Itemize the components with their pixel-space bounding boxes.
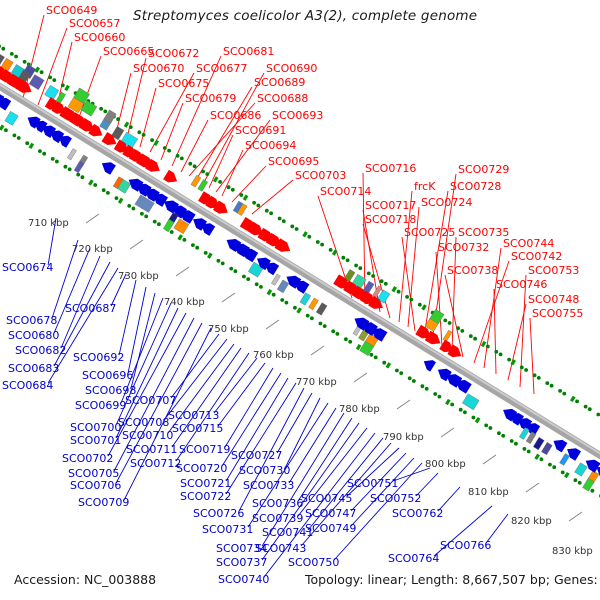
rna-marker-dot [272, 293, 276, 297]
reverse-gene-label[interactable]: SCO0692 [73, 352, 124, 363]
reverse-gene-label[interactable]: SCO0750 [288, 557, 339, 568]
reverse-gene-label[interactable]: SCO0701 [70, 435, 121, 446]
forward-gene-box[interactable] [198, 179, 208, 191]
rna-marker-dot [163, 146, 167, 150]
reverse-gene-label[interactable]: SCO0696 [82, 370, 133, 381]
rna-marker-dot [51, 157, 55, 161]
forward-gene-label[interactable]: SCO0649 [46, 5, 97, 16]
reverse-gene-label[interactable]: SCO0709 [78, 497, 129, 508]
accession-text: Accession: NC_003888 [14, 572, 156, 587]
rna-marker-dot [463, 410, 467, 414]
forward-gene-label[interactable]: SCO0725 [404, 227, 455, 238]
rna-marker-dot [246, 277, 250, 281]
reverse-gene-label[interactable]: SCO0764 [388, 553, 439, 564]
reverse-gene-box[interactable] [271, 274, 280, 286]
axis-tick-label: 740 kbp [164, 297, 205, 308]
reverse-gene-label[interactable]: SCO0722 [180, 491, 231, 502]
forward-gene-label[interactable]: SCO0690 [266, 63, 317, 74]
forward-gene-label[interactable]: SCO0688 [257, 93, 308, 104]
reverse-gene-label[interactable]: SCO0713 [168, 410, 219, 421]
reverse-gene-label[interactable]: SCO0702 [62, 453, 113, 464]
axis-tick-label: 710 kbp [28, 218, 69, 229]
reverse-gene-label[interactable]: SCO0706 [70, 480, 121, 491]
rna-marker-dot [170, 230, 174, 234]
rna-marker-dot [293, 306, 297, 310]
forward-gene-label[interactable]: SCO0729 [458, 164, 509, 175]
rna-marker-dot [255, 282, 259, 286]
rna-marker-dot [514, 442, 518, 446]
axis-tick-leader [483, 455, 496, 464]
forward-gene-label[interactable]: SCO0677 [196, 63, 247, 74]
rna-marker-dot [207, 253, 213, 259]
reverse-gene-label[interactable]: SCO0740 [218, 574, 269, 585]
rna-marker-dot [558, 389, 562, 393]
forward-label-leader [140, 88, 156, 147]
reverse-gene-box[interactable] [533, 437, 544, 450]
forward-gene-label[interactable]: frcK [414, 181, 435, 192]
reverse-gene-label[interactable]: SCO0751 [347, 478, 398, 489]
rna-marker-dot [395, 369, 399, 373]
rna-marker-dot [523, 447, 527, 451]
axis-tick-label: 770 kbp [296, 377, 337, 388]
reverse-gene-arrow[interactable] [456, 380, 472, 394]
forward-gene-label[interactable]: SCO0728 [450, 181, 501, 192]
rna-marker-dot [510, 439, 514, 443]
reverse-gene-box[interactable] [462, 394, 479, 410]
rna-marker-dot [296, 307, 302, 313]
axis-tick-leader [569, 512, 582, 521]
reverse-gene-label[interactable]: SCO0749 [305, 523, 356, 534]
reverse-gene-label[interactable]: SCO0711 [126, 444, 177, 455]
forward-gene-arrow[interactable] [163, 170, 177, 183]
reverse-gene-box[interactable] [74, 161, 84, 173]
forward-gene-label[interactable]: SCO0717 [365, 200, 416, 211]
rna-marker-dot [472, 416, 476, 420]
rna-marker-dot [118, 198, 124, 204]
reverse-gene-label[interactable]: SCO0712 [130, 458, 181, 469]
rna-marker-dot [409, 298, 413, 302]
rna-marker-dot [157, 222, 161, 226]
rna-marker-dot [42, 152, 46, 156]
rna-marker-dot [205, 172, 209, 176]
forward-gene-label[interactable]: SCO0672 [148, 48, 199, 59]
rna-marker-dot [0, 44, 1, 48]
rna-marker-dot [269, 211, 273, 215]
rna-marker-dot [527, 450, 531, 454]
rna-marker-dot [204, 251, 208, 255]
rna-marker-dot [13, 134, 17, 138]
rna-marker-dot [265, 209, 269, 213]
reverse-gene-label[interactable]: SCO0752 [370, 493, 421, 504]
forward-gene-label[interactable]: SCO0755 [532, 308, 583, 319]
rna-marker-dot [76, 173, 80, 177]
rna-marker-dot [341, 256, 345, 260]
forward-label-leader [436, 252, 442, 346]
reverse-gene-arrow[interactable] [265, 263, 279, 276]
reverse-gene-box[interactable] [560, 454, 570, 466]
forward-gene-label[interactable]: SCO0732 [438, 242, 489, 253]
rna-marker-dot [150, 138, 154, 142]
forward-label-leader [530, 318, 534, 394]
rna-marker-dot [399, 371, 403, 375]
rna-marker-dot [188, 162, 192, 166]
rna-marker-dot [418, 303, 422, 307]
rna-marker-dot [578, 481, 582, 485]
reverse-gene-box[interactable] [541, 442, 552, 455]
rna-marker-dot [129, 125, 133, 129]
genome-map-viewer: Streptomyces coelicolor A3(2), complete … [0, 0, 600, 600]
reverse-gene-label[interactable]: SCO0745 [301, 493, 352, 504]
rna-marker-dot [316, 240, 320, 244]
genome-info-text: Topology: linear; Length: 8,667,507 bp; … [305, 572, 600, 587]
rna-marker-dot [242, 275, 246, 279]
rna-marker-dot [64, 85, 70, 91]
forward-gene-label[interactable]: SCO0714 [320, 186, 371, 197]
rna-marker-dot [346, 258, 350, 262]
rna-marker-dot [421, 304, 427, 310]
forward-gene-label[interactable]: SCO0670 [133, 63, 184, 74]
rna-marker-dot [489, 426, 493, 430]
rna-marker-dot [1, 47, 5, 51]
reverse-gene-box[interactable] [309, 298, 319, 310]
rna-marker-dot [278, 217, 282, 221]
reverse-gene-arrow[interactable] [295, 281, 310, 294]
reverse-gene-arrow[interactable] [424, 360, 436, 372]
reverse-gene-box[interactable] [519, 428, 529, 440]
rna-marker-dot [252, 201, 256, 205]
forward-label-leader [161, 103, 183, 160]
forward-label-leader [508, 304, 526, 380]
rna-marker-dot [564, 472, 570, 478]
rna-marker-dot [93, 183, 97, 187]
forward-gene-label[interactable]: SCO0665 [103, 46, 154, 57]
axis-tick-label: 730 kbp [118, 271, 159, 282]
forward-gene-label[interactable]: SCO0681 [223, 46, 274, 57]
rna-marker-dot [534, 454, 540, 460]
reverse-gene-box[interactable] [575, 463, 588, 477]
reverse-gene-label[interactable]: SCO0705 [68, 468, 119, 479]
reverse-gene-label[interactable]: SCO0674 [2, 262, 53, 273]
reverse-label-leader [218, 363, 265, 426]
reverse-gene-label[interactable]: SCO0736 [252, 498, 303, 509]
rna-marker-dot [302, 231, 308, 237]
rna-marker-dot [229, 267, 233, 271]
rna-marker-dot [552, 465, 556, 469]
reverse-gene-box[interactable] [277, 280, 289, 293]
forward-gene-label[interactable]: SCO0686 [210, 110, 261, 121]
rna-marker-dot [588, 407, 592, 411]
reverse-gene-box[interactable] [526, 432, 536, 444]
reverse-gene-label[interactable]: SCO0684 [2, 380, 53, 391]
rna-marker-dot [10, 52, 14, 56]
rna-marker-dot [596, 413, 600, 417]
reverse-gene-label[interactable]: SCO0680 [8, 330, 59, 341]
rna-marker-dot [103, 110, 107, 114]
forward-gene-label[interactable]: SCO0718 [365, 214, 416, 225]
reverse-gene-label[interactable]: SCO0730 [239, 465, 290, 476]
reverse-gene-box[interactable] [67, 149, 76, 161]
rna-marker-dot [507, 358, 511, 362]
reverse-gene-label[interactable]: SCO0739 [252, 513, 303, 524]
rna-marker-dot [201, 170, 205, 174]
reverse-label-leader [128, 287, 146, 373]
rna-marker-dot [106, 191, 110, 195]
rna-marker-dot [282, 219, 286, 223]
rna-marker-dot [358, 266, 362, 270]
rna-marker-dot [323, 324, 327, 328]
rna-marker-dot [548, 463, 552, 467]
rna-marker-dot [38, 149, 42, 153]
rna-marker-dot [499, 353, 503, 357]
rna-marker-dot [397, 290, 401, 294]
reverse-gene-label[interactable]: SCO0727 [231, 450, 282, 461]
rna-marker-dot [14, 55, 18, 59]
reverse-gene-arrow[interactable] [0, 98, 11, 111]
rna-marker-dot [533, 373, 537, 377]
reverse-label-leader [54, 248, 90, 333]
rna-marker-dot [137, 130, 141, 134]
rna-marker-dot [497, 431, 501, 435]
rna-marker-dot [116, 117, 120, 121]
rna-marker-dot [354, 264, 358, 268]
rna-marker-dot [290, 225, 294, 229]
rna-marker-dot [259, 285, 263, 289]
rna-marker-dot [520, 366, 524, 370]
reverse-gene-arrow[interactable] [59, 136, 72, 148]
forward-label-leader [232, 166, 266, 202]
rna-marker-dot [331, 329, 335, 333]
rna-marker-dot [550, 384, 554, 388]
reverse-gene-arrow[interactable] [567, 448, 581, 461]
rna-marker-dot [307, 235, 311, 239]
axis-tick-leader [130, 240, 143, 249]
rna-marker-dot [234, 269, 238, 273]
rna-marker-dot [494, 350, 498, 354]
rna-marker-dot [391, 286, 397, 292]
reverse-gene-label[interactable]: SCO0683 [8, 363, 59, 374]
rna-marker-dot [180, 157, 184, 161]
forward-gene-box[interactable] [45, 85, 59, 100]
axis-tick-leader [86, 214, 99, 223]
reverse-gene-label[interactable]: SCO0707 [125, 395, 176, 406]
rna-marker-dot [344, 337, 348, 341]
rna-marker-dot [484, 424, 488, 428]
reverse-gene-label[interactable]: SCO0715 [172, 423, 223, 434]
axis-tick-leader [441, 428, 454, 437]
rna-marker-dot [306, 314, 310, 318]
rna-marker-dot [561, 471, 565, 475]
axis-tick-label: 760 kbp [253, 350, 294, 361]
rna-marker-dot [102, 188, 106, 192]
forward-gene-label[interactable]: SCO0695 [268, 156, 319, 167]
rna-marker-dot [243, 195, 249, 201]
rna-marker-dot [25, 141, 29, 145]
rna-marker-dot [285, 301, 289, 305]
forward-label-leader [181, 120, 208, 172]
rna-marker-dot [412, 379, 416, 383]
forward-gene-label[interactable]: SCO0738 [447, 265, 498, 276]
forward-gene-label[interactable]: SCO0694 [245, 140, 296, 151]
axis-tick-leader [526, 483, 539, 492]
rna-marker-dot [191, 243, 195, 247]
reverse-gene-arrow[interactable] [243, 249, 259, 263]
genome-map-canvas [0, 0, 600, 600]
rna-marker-dot [81, 175, 85, 179]
rna-marker-dot [320, 243, 324, 247]
rna-marker-dot [140, 212, 144, 216]
forward-gene-box[interactable] [29, 75, 44, 90]
reverse-gene-label[interactable]: SCO0687 [65, 303, 116, 314]
reverse-gene-label[interactable]: SCO0762 [392, 508, 443, 519]
rna-marker-dot [425, 387, 429, 391]
rna-marker-dot [374, 356, 378, 360]
reverse-gene-label[interactable]: SCO0747 [305, 508, 356, 519]
forward-gene-label[interactable]: SCO0724 [421, 197, 472, 208]
reverse-gene-arrow[interactable] [554, 440, 568, 453]
forward-gene-label[interactable]: SCO0689 [254, 77, 305, 88]
axis-tick-label: 830 kbp [552, 546, 593, 557]
forward-gene-label[interactable]: SCO0742 [511, 251, 562, 262]
rna-marker-dot [4, 128, 8, 132]
rna-marker-dot [23, 60, 27, 64]
rna-marker-dot [295, 227, 299, 231]
reverse-gene-label[interactable]: SCO0678 [6, 315, 57, 326]
rna-marker-dot [55, 160, 59, 164]
rna-marker-dot [460, 329, 464, 333]
reverse-gene-label[interactable]: SCO0721 [180, 478, 231, 489]
forward-gene-label[interactable]: SCO0744 [503, 238, 554, 249]
reverse-gene-label[interactable]: SCO0700 [70, 422, 121, 433]
reverse-gene-arrow[interactable] [102, 162, 116, 175]
rna-marker-dot [61, 83, 65, 87]
reverse-label-leader [277, 393, 312, 453]
forward-gene-label[interactable]: SCO0693 [272, 110, 323, 121]
rna-marker-dot [562, 392, 566, 396]
forward-gene-label[interactable]: SCO0679 [185, 93, 236, 104]
reverse-gene-label[interactable]: SCO0743 [255, 543, 306, 554]
rna-marker-dot [574, 478, 578, 482]
rna-marker-dot [433, 392, 437, 396]
rna-marker-dot [384, 282, 388, 286]
rna-marker-dot [545, 381, 549, 385]
reverse-gene-label[interactable]: SCO0766 [440, 540, 491, 551]
reverse-gene-box[interactable] [300, 293, 311, 306]
rna-marker-dot [153, 220, 157, 224]
rna-marker-dot [591, 489, 595, 493]
rna-marker-dot [64, 165, 68, 169]
forward-gene-label[interactable]: SCO0660 [74, 32, 125, 43]
rna-marker-dot [310, 316, 314, 320]
rna-marker-dot [48, 76, 52, 80]
rna-marker-dot [17, 136, 21, 140]
rna-marker-dot [29, 143, 35, 149]
page-title: Streptomyces coelicolor A3(2), complete … [133, 8, 477, 24]
reverse-gene-label[interactable]: SCO0710 [122, 430, 173, 441]
rna-marker-dot [380, 279, 384, 283]
rna-marker-dot [231, 188, 235, 192]
rna-marker-dot [475, 417, 481, 423]
axis-tick-leader [397, 400, 410, 409]
reverse-gene-label[interactable]: SCO0731 [202, 524, 253, 535]
reverse-gene-label[interactable]: SCO0708 [118, 417, 169, 428]
rna-marker-dot [132, 207, 136, 211]
forward-label-leader [252, 180, 293, 214]
rna-marker-dot [456, 326, 460, 330]
rna-marker-dot [329, 248, 333, 252]
rna-marker-dot [459, 408, 463, 412]
rna-marker-dot [227, 185, 231, 189]
rna-marker-dot [537, 376, 541, 380]
rna-marker-dot [115, 196, 119, 200]
rna-marker-dot [469, 334, 473, 338]
forward-gene-label[interactable]: SCO0753 [528, 265, 579, 276]
forward-gene-label[interactable]: SCO0735 [458, 227, 509, 238]
forward-gene-label[interactable]: SCO0746 [496, 279, 547, 290]
forward-gene-box[interactable] [191, 175, 201, 187]
axis-tick-leader [176, 267, 189, 276]
rna-marker-dot [319, 322, 323, 326]
reverse-gene-label[interactable]: SCO0726 [193, 508, 244, 519]
rna-marker-dot [193, 164, 197, 168]
rna-marker-dot [524, 368, 528, 372]
rna-marker-dot [221, 262, 225, 266]
rna-marker-dot [183, 238, 187, 242]
reverse-gene-box[interactable] [5, 111, 18, 125]
rna-marker-dot [386, 362, 392, 368]
rna-marker-dot [486, 345, 490, 349]
rna-marker-dot [445, 399, 451, 405]
forward-gene-label[interactable]: SCO0703 [295, 170, 346, 181]
rna-marker-dot [142, 133, 146, 137]
rna-marker-dot [570, 396, 576, 402]
reverse-label-leader [119, 280, 136, 355]
forward-gene-box[interactable] [443, 330, 452, 342]
forward-gene-label[interactable]: SCO0748 [528, 294, 579, 305]
forward-gene-label[interactable]: SCO0675 [158, 78, 209, 89]
forward-gene-label[interactable]: SCO0657 [69, 18, 120, 29]
axis-tick-label: 810 kbp [468, 487, 509, 498]
rna-marker-dot [239, 193, 243, 197]
rna-marker-dot [575, 400, 579, 404]
rna-marker-dot [405, 295, 409, 299]
reverse-gene-label[interactable]: SCO0699 [75, 400, 126, 411]
rna-marker-dot [438, 395, 442, 399]
reverse-gene-arrow[interactable] [201, 223, 215, 236]
rna-marker-dot [336, 332, 340, 336]
axis-tick-label: 750 kbp [208, 324, 249, 335]
forward-gene-label[interactable]: SCO0691 [235, 125, 286, 136]
rna-marker-dot [382, 361, 386, 365]
reverse-gene-label[interactable]: SCO0720 [176, 463, 227, 474]
reverse-gene-label[interactable]: SCO0733 [243, 480, 294, 491]
rna-marker-dot [68, 167, 72, 171]
rna-marker-dot [267, 289, 273, 295]
reverse-gene-label[interactable]: SCO0737 [216, 557, 267, 568]
reverse-gene-box[interactable] [316, 303, 327, 316]
rna-marker-dot [176, 154, 180, 158]
rna-marker-dot [167, 149, 171, 153]
forward-label-leader [452, 237, 456, 351]
rna-marker-dot [408, 376, 412, 380]
rna-marker-dot [195, 246, 199, 250]
reverse-gene-label[interactable]: SCO0682 [15, 345, 66, 356]
rna-marker-dot [421, 384, 425, 388]
reverse-label-leader [298, 418, 352, 501]
rna-marker-dot [450, 403, 454, 407]
forward-gene-label[interactable]: SCO0716 [365, 163, 416, 174]
rna-marker-dot [127, 204, 131, 208]
reverse-gene-label[interactable]: SCO0719 [179, 444, 230, 455]
